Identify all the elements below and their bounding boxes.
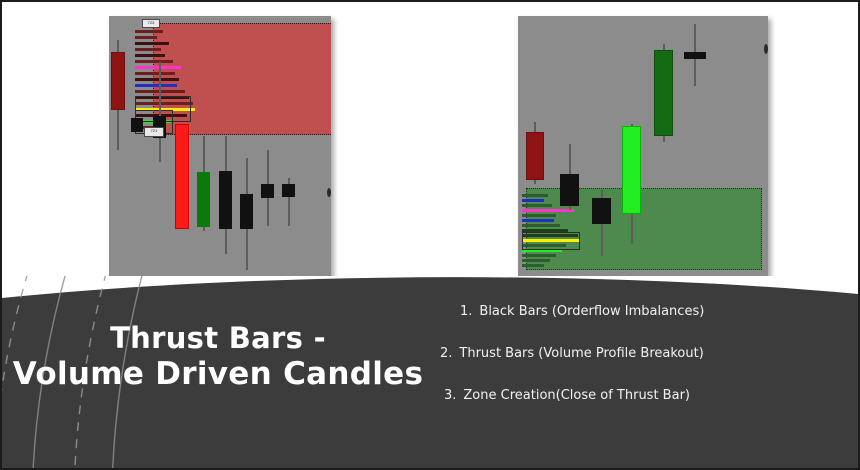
candle-body [219, 171, 232, 229]
right-edge-marker [764, 44, 768, 54]
list-item: 1. Black Bars (Orderflow Imbalances) [432, 304, 850, 319]
right-chart-panel [518, 16, 768, 278]
list-item: 2. Thrust Bars (Volume Profile Breakout) [432, 346, 850, 361]
candle-body [684, 52, 706, 59]
right-edge-marker [327, 188, 331, 197]
bullet-number: 1. [460, 304, 472, 319]
imbalance-bar [592, 16, 611, 278]
list-item: 3. Zone Creation(Close of Thrust Bar) [432, 388, 850, 403]
imbalance-bar [684, 16, 706, 278]
imbalance-bar [240, 16, 253, 278]
thrust-bar-down [175, 16, 189, 278]
bullet-number: 3. [444, 388, 456, 403]
bull-candle [197, 16, 210, 278]
bullet-list: 1. Black Bars (Orderflow Imbalances) 2. … [432, 304, 850, 430]
imbalance-bar [560, 16, 579, 278]
val-price-tag: 721 [144, 127, 164, 137]
bull-candle [654, 16, 673, 278]
left-chart-panel: 723 721 [109, 16, 331, 278]
imbalance-bar [131, 16, 143, 278]
candle-wick [159, 62, 161, 162]
candle-body [526, 132, 544, 180]
bullet-number: 2. [440, 346, 452, 361]
candle-body [261, 184, 274, 198]
thrust-bar-up [622, 16, 641, 278]
slide-root: 723 721 [0, 0, 860, 470]
headline-line-1: Thrust Bars - [110, 321, 326, 355]
candle-body [240, 194, 253, 229]
bullet-text: Black Bars (Orderflow Imbalances) [479, 304, 704, 319]
page-title: Thrust Bars - Volume Driven Candles [8, 320, 428, 392]
poc-price-tag: 723 [142, 19, 160, 28]
imbalance-bar [153, 16, 166, 278]
candle-body [622, 126, 641, 214]
candle-body [282, 184, 295, 197]
candle-body [560, 174, 579, 206]
bullet-text: Thrust Bars (Volume Profile Breakout) [459, 346, 703, 361]
footer-band: Thrust Bars - Volume Driven Candles 1. B… [2, 276, 858, 468]
bear-candle [111, 16, 125, 278]
imbalance-bar [219, 16, 232, 278]
candle-body [131, 118, 143, 132]
candle-body [111, 52, 125, 110]
bear-candle [526, 16, 544, 278]
bullet-text: Zone Creation(Close of Thrust Bar) [463, 388, 690, 403]
candle-body [197, 172, 210, 227]
imbalance-bar [261, 16, 274, 278]
candle-body [592, 198, 611, 224]
headline-line-2: Volume Driven Candles [8, 356, 428, 392]
candle-body [175, 124, 189, 229]
candle-body [654, 50, 673, 136]
imbalance-bar [282, 16, 295, 278]
